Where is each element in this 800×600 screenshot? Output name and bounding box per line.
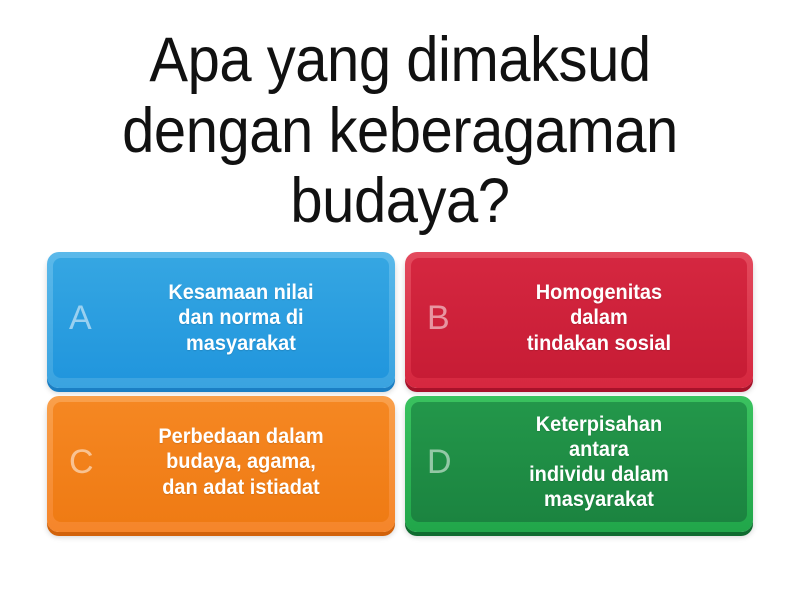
answer-option-b-face: B Homogenitas dalam tindakan sosial <box>411 258 747 378</box>
question-area: Apa yang dimaksud dengan keberagaman bud… <box>20 16 780 246</box>
answer-label-c: Perbedaan dalam budaya, agama, dan adat … <box>61 424 380 500</box>
answers-grid: A Kesamaan nilai dan norma di masyarakat… <box>47 252 753 532</box>
quiz-stage: Apa yang dimaksud dengan keberagaman bud… <box>0 0 800 600</box>
answer-option-d[interactable]: D Keterpisahan antara individu dalam mas… <box>405 396 753 532</box>
answer-option-d-face: D Keterpisahan antara individu dalam mas… <box>411 402 747 522</box>
answer-option-b[interactable]: B Homogenitas dalam tindakan sosial <box>405 252 753 388</box>
question-text: Apa yang dimaksud dengan keberagaman bud… <box>50 25 749 237</box>
answer-label-a: Kesamaan nilai dan norma di masyarakat <box>61 280 380 356</box>
answer-label-d: Keterpisahan antara individu dalam masya… <box>419 412 738 513</box>
answer-option-c[interactable]: C Perbedaan dalam budaya, agama, dan ada… <box>47 396 395 532</box>
answer-label-b: Homogenitas dalam tindakan sosial <box>419 280 738 356</box>
answer-option-a[interactable]: A Kesamaan nilai dan norma di masyarakat <box>47 252 395 388</box>
answer-option-a-face: A Kesamaan nilai dan norma di masyarakat <box>53 258 389 378</box>
answer-option-c-face: C Perbedaan dalam budaya, agama, dan ada… <box>53 402 389 522</box>
